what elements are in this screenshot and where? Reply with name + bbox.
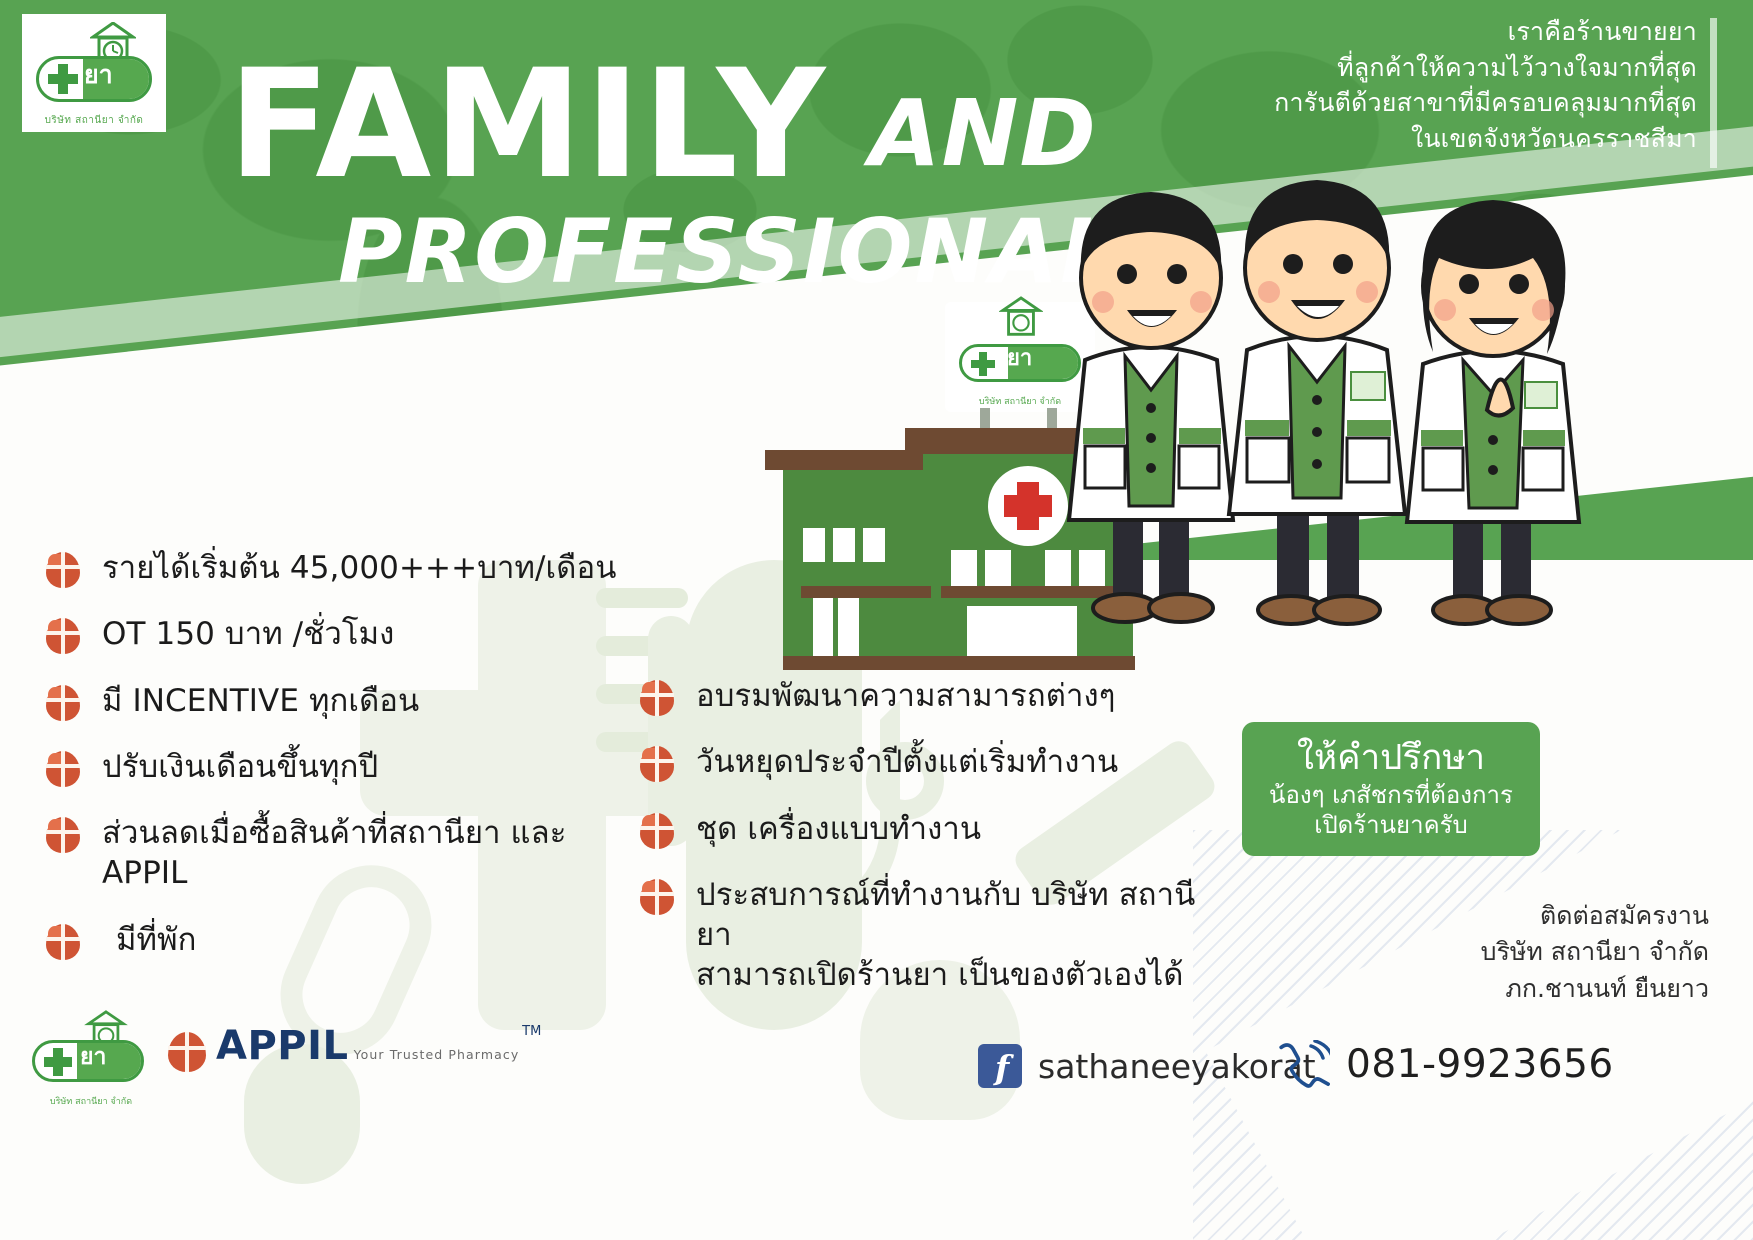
appil-trademark: TM [522, 1024, 541, 1039]
facebook-icon[interactable]: f [978, 1044, 1022, 1088]
bullet-cross-icon [46, 817, 80, 853]
consult-line-2: น้องๆ เภสัชกรที่ต้องการ [1269, 781, 1513, 810]
sign-clock-tower-icon [999, 296, 1043, 342]
consult-callout-box: ให้คำปรึกษา น้องๆ เภสัชกรที่ต้องการ เปิด… [1242, 722, 1540, 856]
consult-title: ให้คำปรึกษา [1297, 738, 1485, 779]
header-vertical-rule [1710, 18, 1717, 168]
bullet-cross-icon [46, 685, 80, 721]
contact-line-1: ติดต่อสมัครงาน [1481, 898, 1709, 934]
pharmacists-illustration [1055, 160, 1753, 670]
benefit-text-line-1: ประสบการณ์ที่ทำงานกับ บริษัท สถานียา [696, 875, 1200, 956]
benefit-text: ส่วนลดเมื่อซื้อสินค้าที่สถานียา และ APPI… [102, 813, 646, 894]
footer-cross-icon [44, 1048, 72, 1076]
benefit-text: อบรมพัฒนาความสามารถต่างๆ [696, 676, 1116, 716]
benefit-text: ปรับเงินเดือนขึ้นทุกปี [102, 747, 378, 787]
phone-icon [1278, 1040, 1330, 1088]
appil-wordmark: APPIL [216, 1023, 348, 1069]
poster-canvas: ยา บริษัท สถานียา จำกัด FAMILY AND PROFE… [0, 0, 1753, 1240]
appil-tagline: Your Trusted Pharmacy [354, 1047, 520, 1062]
bullet-cross-icon [46, 552, 80, 588]
footer-company-logo: ยา บริษัท สถานียา จำกัด [26, 1010, 156, 1110]
phone-contact[interactable]: 081-9923656 [1278, 1040, 1614, 1088]
benefit-item: มี INCENTIVE ทุกเดือน [46, 681, 646, 721]
bullet-cross-icon [46, 924, 80, 960]
phone-number[interactable]: 081-9923656 [1346, 1042, 1614, 1087]
facebook-link[interactable]: f sathaneeyakorat [978, 1044, 1316, 1088]
benefit-item: รายได้เริ่มต้น 45,000+++บาท/เดือน [46, 548, 646, 588]
sign-thai-text: ยา [1007, 348, 1032, 370]
pharmacy-illustration: ยา บริษัท สถานียา จำกัด [755, 290, 1753, 670]
header-thai-line-4: ในเขตจังหวัดนครราชสีมา [1274, 121, 1697, 157]
headline-family: FAMILY [228, 56, 827, 194]
bullet-cross-icon [640, 746, 674, 782]
benefit-item: ชุด เครื่องแบบทำงาน [640, 809, 1200, 849]
bullet-cross-icon [640, 813, 674, 849]
header-thai-line-2: ที่ลูกค้าให้ความไว้วางใจมากที่สุด [1274, 50, 1697, 86]
logo-subtitle: บริษัท สถานียา จำกัด [28, 113, 160, 128]
benefit-item: OT 150 บาท /ชั่วโมง [46, 614, 646, 654]
bullet-cross-icon [46, 751, 80, 787]
contact-block: ติดต่อสมัครงาน บริษัท สถานียา จำกัด ภก.ช… [1481, 898, 1709, 1007]
benefit-text: รายได้เริ่มต้น 45,000+++บาท/เดือน [102, 548, 617, 588]
benefit-item: ปรับเงินเดือนขึ้นทุกปี [46, 747, 646, 787]
medical-cross-icon [48, 64, 78, 94]
bullet-cross-icon [640, 879, 674, 915]
facebook-handle[interactable]: sathaneeyakorat [1038, 1047, 1316, 1086]
appil-cross-icon [168, 1032, 206, 1072]
header-thai-line-1: เราคือร้านขายยา [1274, 14, 1697, 50]
headline-professional: PROFESSIONAL [338, 208, 1118, 296]
header-thai-block: เราคือร้านขายยา ที่ลูกค้าให้ความไว้วางใจ… [1274, 14, 1697, 156]
benefit-item: มีที่พัก [46, 920, 646, 960]
benefit-text: มี INCENTIVE ทุกเดือน [102, 681, 419, 721]
benefit-item: ประสบการณ์ที่ทำงานกับ บริษัท สถานียา สาม… [640, 875, 1200, 996]
company-logo-badge: ยา บริษัท สถานียา จำกัด [22, 14, 166, 132]
sign-cross-icon [971, 352, 995, 376]
headline-block: FAMILY AND PROFESSIONAL [228, 56, 1118, 296]
benefit-item: อบรมพัฒนาความสามารถต่างๆ [640, 676, 1200, 716]
benefit-item: ส่วนลดเมื่อซื้อสินค้าที่สถานียา และ APPI… [46, 813, 646, 894]
benefit-text: มีที่พัก [102, 920, 196, 960]
benefits-column-right: อบรมพัฒนาความสามารถต่างๆ วันหยุดประจำปีต… [640, 676, 1200, 1022]
bullet-cross-icon [46, 618, 80, 654]
bullet-cross-icon [640, 680, 674, 716]
consult-line-3: เปิดร้านยาครับ [1314, 811, 1468, 840]
footer-logo-subtitle: บริษัท สถานียา จำกัด [26, 1094, 156, 1108]
benefit-text: ชุด เครื่องแบบทำงาน [696, 809, 981, 849]
footer-logo-thai: ยา [80, 1046, 106, 1069]
pharmacist-right [1407, 200, 1579, 624]
benefit-text: วันหยุดประจำปีตั้งแต่เริ่มทำงาน [696, 742, 1118, 782]
appil-logo: APPIL TM Your Trusted Pharmacy [168, 1026, 519, 1072]
pharmacist-middle [1229, 180, 1405, 624]
benefit-text-line-2: สามารถเปิดร้านยา เป็นของตัวเองได้ [696, 955, 1200, 995]
pharmacist-left [1069, 192, 1233, 622]
benefit-text: OT 150 บาท /ชั่วโมง [102, 614, 394, 654]
benefit-item: วันหยุดประจำปีตั้งแต่เริ่มทำงาน [640, 742, 1200, 782]
benefits-column-left: รายได้เริ่มต้น 45,000+++บาท/เดือน OT 150… [46, 548, 646, 986]
logo-thai-text: ยา [84, 62, 113, 87]
contact-line-2: บริษัท สถานียา จำกัด [1481, 934, 1709, 970]
header-thai-line-3: การันตีด้วยสาขาที่มีครอบคลุมมากที่สุด [1274, 85, 1697, 121]
contact-line-3: ภก.ชานนท์ ยืนยาว [1481, 971, 1709, 1007]
